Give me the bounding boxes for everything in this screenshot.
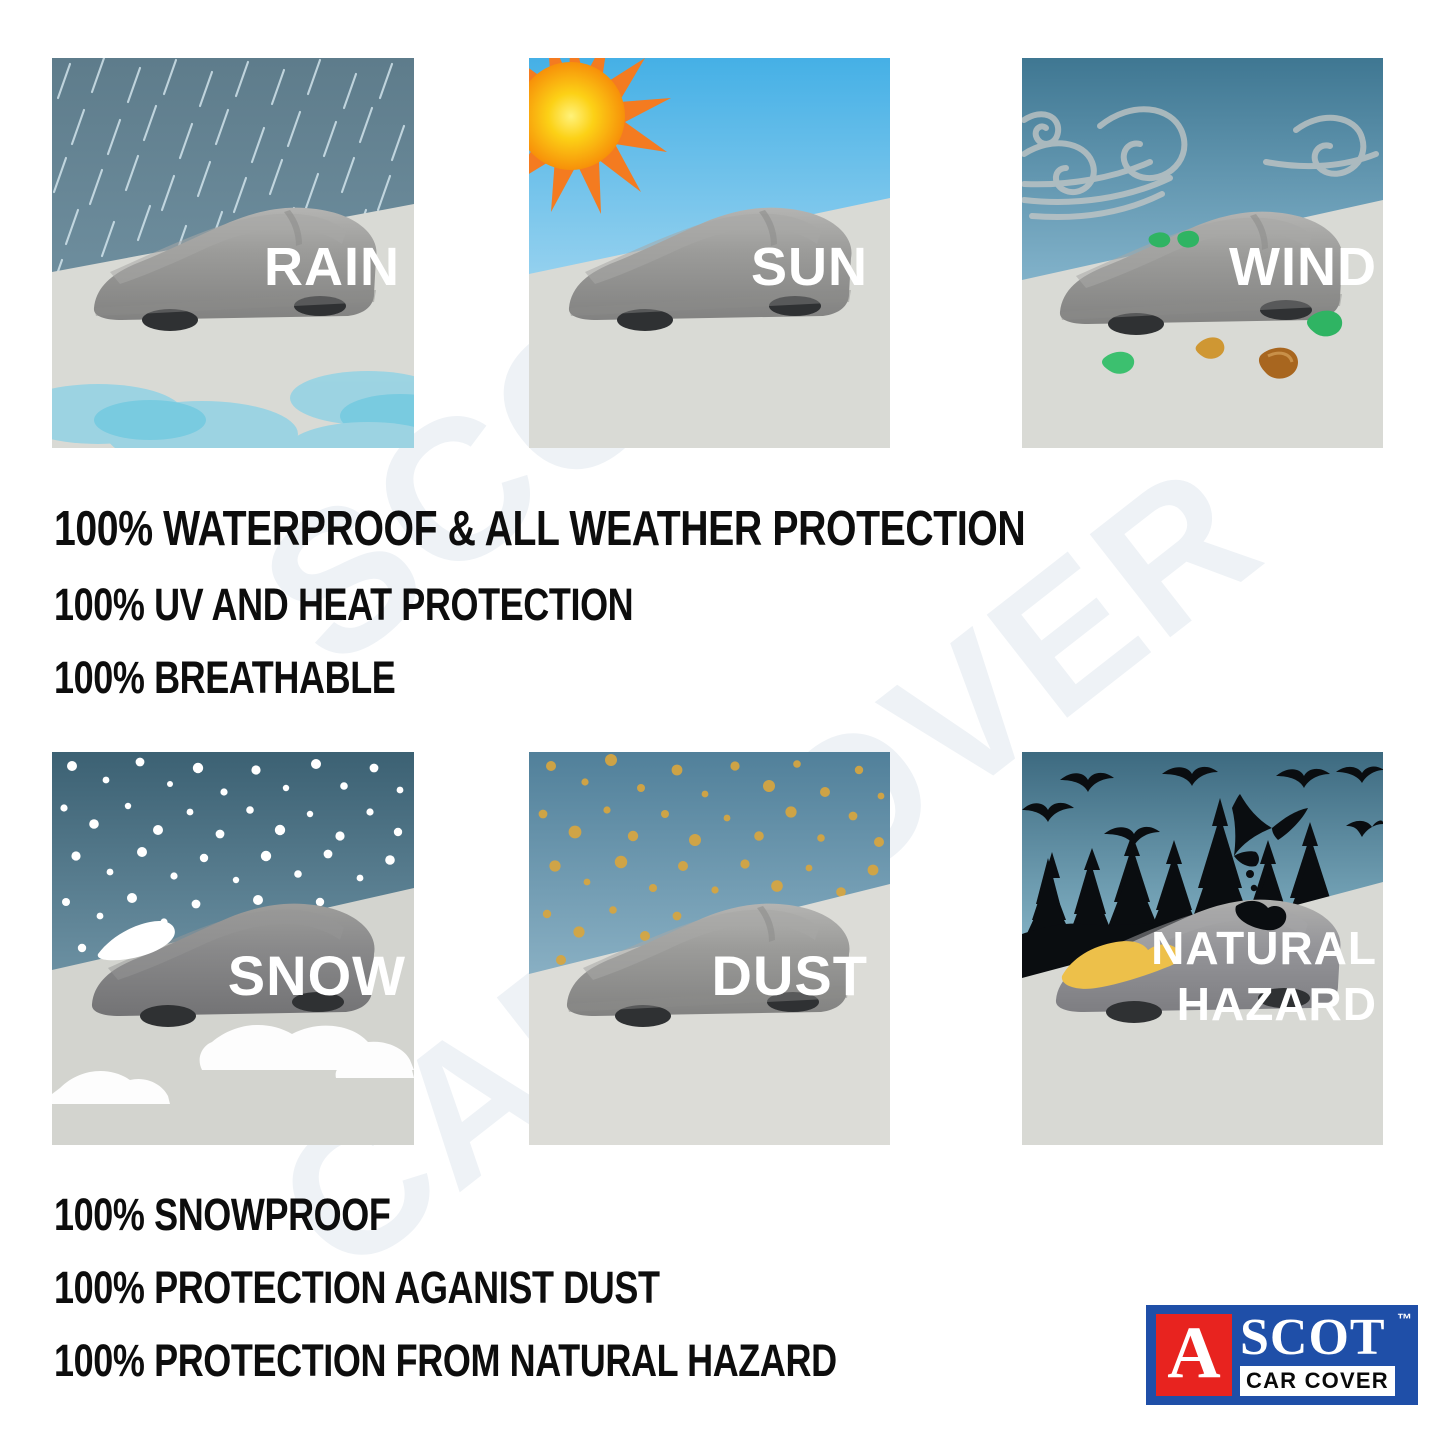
panel-rain: RAIN	[52, 58, 414, 448]
feature-line: 100% PROTECTION AGANIST DUST	[54, 1265, 837, 1310]
panel-label-rain: RAIN	[52, 240, 400, 294]
feature-line: 100% PROTECTION FROM NATURAL HAZARD	[54, 1338, 837, 1383]
feature-line: 100% SNOWPROOF	[54, 1192, 837, 1237]
panel-sun: SUN	[529, 58, 890, 448]
panel-wind: WIND	[1022, 58, 1383, 448]
feature-line: 100% WATERPROOF & ALL WEATHER PROTECTION	[54, 505, 1025, 554]
panel-label-sun: SUN	[529, 240, 868, 294]
feature-line: 100% UV AND HEAT PROTECTION	[54, 582, 1025, 627]
logo-monogram-box: A	[1156, 1314, 1232, 1396]
brand-logo[interactable]: A SCOT CAR COVER ™	[1146, 1305, 1418, 1405]
logo-tagline: CAR COVER	[1240, 1366, 1395, 1396]
feature-line: 100% BREATHABLE	[54, 655, 1025, 700]
panel-natural-hazard: NATURAL HAZARD	[1022, 752, 1383, 1145]
panel-snow: SNOW	[52, 752, 414, 1145]
logo-brand-name: SCOT	[1240, 1314, 1412, 1363]
feature-list-bottom: 100% SNOWPROOF 100% PROTECTION AGANIST D…	[54, 1192, 1032, 1383]
feature-list-top: 100% WATERPROOF & ALL WEATHER PROTECTION…	[54, 505, 1268, 700]
panel-label-natural-hazard: NATURAL HAZARD	[1022, 920, 1377, 1032]
logo-monogram: A	[1167, 1316, 1220, 1390]
panel-label-snow: SNOW	[52, 948, 406, 1004]
logo-text-group: SCOT CAR COVER ™	[1232, 1305, 1418, 1405]
panel-dust: DUST	[529, 752, 890, 1145]
panel-label-dust: DUST	[529, 948, 868, 1004]
panel-label-wind: WIND	[1022, 240, 1377, 294]
trademark-icon: ™	[1397, 1311, 1412, 1328]
